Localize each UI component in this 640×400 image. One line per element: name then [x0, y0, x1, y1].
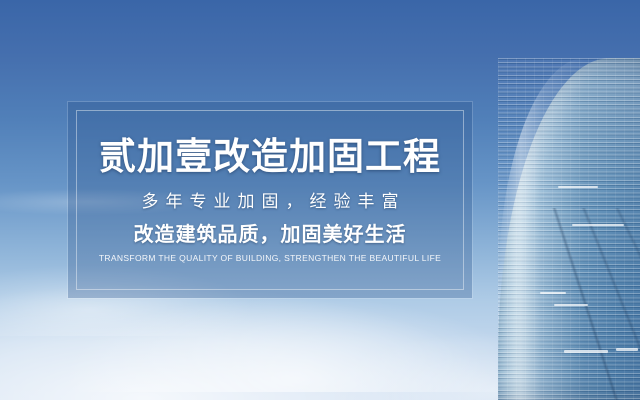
banner-tagline-english: TRANSFORM THE QUALITY OF BUILDING, STREN…	[99, 254, 441, 263]
banner-headline: 贰加壹改造加固工程	[99, 138, 441, 175]
tower-glint	[554, 304, 588, 306]
hero-banner: 贰加壹改造加固工程 多年专业加固，经验丰富 改造建筑品质，加固美好生活 TRAN…	[0, 0, 640, 400]
text-overlay-panel: 贰加壹改造加固工程 多年专业加固，经验丰富 改造建筑品质，加固美好生活 TRAN…	[68, 102, 472, 298]
tower-body	[498, 58, 640, 400]
tower-glint	[558, 186, 598, 188]
tower-glint	[616, 348, 638, 351]
tower-glint	[564, 350, 608, 353]
panel-content: 贰加壹改造加固工程 多年专业加固，经验丰富 改造建筑品质，加固美好生活 TRAN…	[68, 102, 472, 298]
skyscraper-image	[480, 0, 640, 400]
banner-tagline: 改造建筑品质，加固美好生活	[134, 225, 407, 245]
tower-glint	[572, 224, 624, 226]
tower-glint	[540, 292, 566, 294]
banner-subline: 多年专业加固，经验丰富	[135, 193, 406, 210]
